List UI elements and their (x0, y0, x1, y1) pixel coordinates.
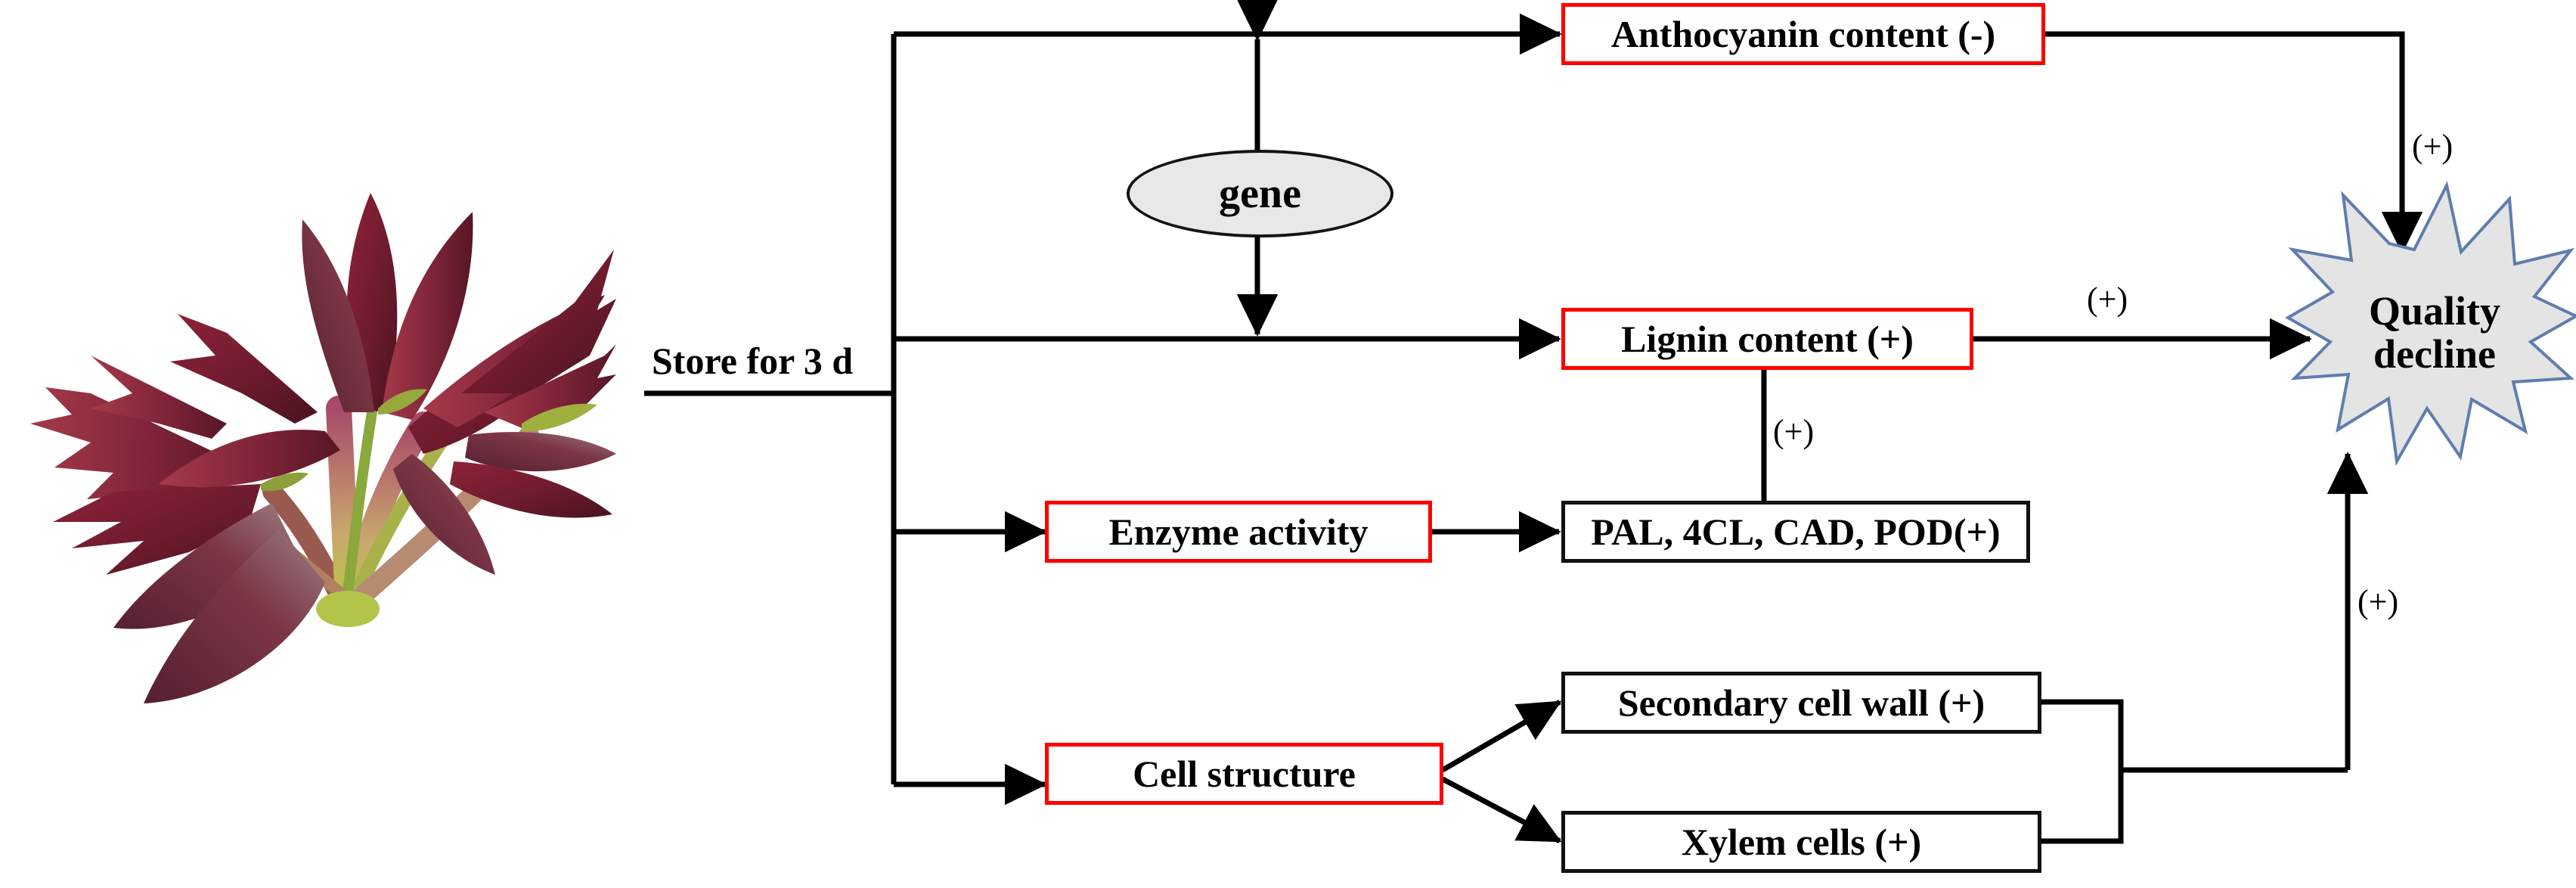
outcome-line-1: Quality (2369, 290, 2500, 333)
edge-label-lignin-to-enzymes: (+) (1773, 412, 1814, 451)
gene-node[interactable]: gene (1127, 150, 1393, 238)
lignin-content-node[interactable]: Lignin content (+) (1561, 308, 1973, 370)
cell-structure-label: Cell structure (1133, 754, 1356, 794)
xylem-cells-label: Xylem cells (+) (1682, 822, 1921, 862)
treatment-label: Store for 3 d (652, 339, 853, 383)
gene-node-label: gene (1219, 169, 1301, 218)
anthocyanin-content-label: Anthocyanin content (-) (1611, 14, 1995, 54)
edge-label-lignin-to-outcome: (+) (2087, 280, 2128, 318)
cell-structure-node[interactable]: Cell structure (1045, 743, 1443, 805)
anthocyanin-content-node[interactable]: Anthocyanin content (-) (1561, 3, 2045, 65)
edge-label-cellwall-to-outcome: (+) (2357, 582, 2398, 621)
outcome-line-2: decline (2373, 333, 2496, 376)
secondary-cell-wall-label: Secondary cell wall (+) (1618, 683, 1985, 723)
enzyme-activity-node[interactable]: Enzyme activity (1045, 501, 1432, 563)
figure-canvas: Quality decline Store for 3 d gene Antho… (0, 0, 2576, 888)
lignin-content-label: Lignin content (+) (1621, 319, 1914, 359)
enzymes-list-node[interactable]: PAL, 4CL, CAD, POD(+) (1561, 501, 2030, 563)
xylem-cells-node[interactable]: Xylem cells (+) (1561, 811, 2041, 873)
enzyme-activity-label: Enzyme activity (1109, 512, 1369, 552)
edge-label-anthocyanin-to-outcome: (+) (2412, 127, 2453, 166)
enzymes-list-label: PAL, 4CL, CAD, POD(+) (1591, 512, 2000, 552)
secondary-cell-wall-node[interactable]: Secondary cell wall (+) (1561, 672, 2041, 734)
outcome-label: Quality decline (2291, 261, 2576, 405)
